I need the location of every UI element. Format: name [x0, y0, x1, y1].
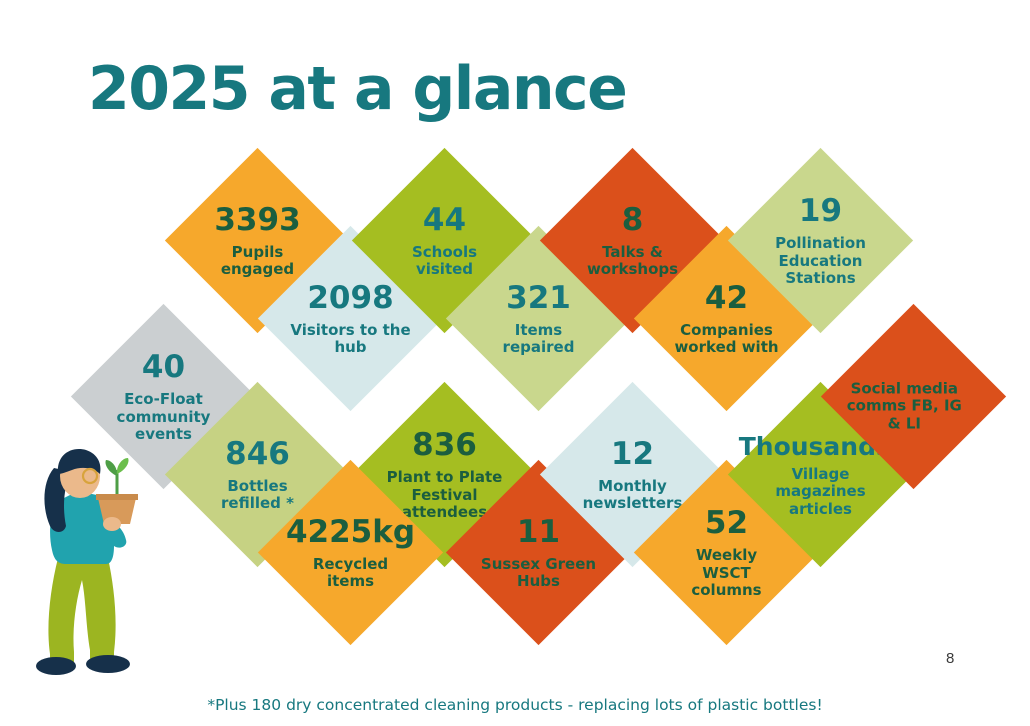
stat-label: Recycleditems [312, 555, 387, 590]
stat-value: 321 [506, 280, 571, 316]
stat-value: 44 [422, 202, 465, 238]
page-number: 8 [946, 650, 954, 667]
stat-label: Bottlesrefilled * [221, 477, 294, 512]
stats-diamond-grid: 3393Pupilsengaged2098Visitors to thehub4… [0, 0, 1030, 726]
stat-value: 19 [798, 193, 841, 229]
stat-label: Companiesworked with [674, 321, 778, 356]
stat-label: Sussex GreenHubs [480, 555, 595, 590]
stat-value: 2098 [307, 280, 393, 316]
stat-value: 40 [141, 349, 184, 385]
stat-label: Visitors to thehub [290, 321, 410, 356]
stat-label: Schoolsvisited [411, 243, 476, 278]
stat-label: Talks &workshops [586, 243, 677, 278]
stat-value: 8 [621, 202, 643, 238]
stat-value: 11 [516, 514, 559, 550]
stat-label: Itemsrepaired [502, 321, 574, 356]
stat-label: WeeklyWSCTcolumns [691, 546, 761, 598]
stat-label: Eco-Floatcommunityevents [116, 390, 210, 442]
stat-value: 52 [704, 505, 747, 541]
stat-label: PollinationEducationStations [775, 234, 866, 286]
stat-label: Villagemagazinesarticles [775, 465, 865, 517]
stat-value: 4225kg [285, 514, 414, 550]
stat-label: Social mediacomms FB, IG& LI [846, 379, 961, 431]
stat-label: Monthlynewsletters [582, 477, 682, 512]
stat-label: Pupilsengaged [220, 243, 293, 278]
stat-value: 836 [412, 427, 477, 463]
stat-value: 3393 [214, 202, 300, 238]
footnote: *Plus 180 dry concentrated cleaning prod… [0, 696, 1030, 714]
stat-value: 42 [704, 280, 747, 316]
stat-value: 12 [610, 436, 653, 472]
slide-canvas: 2025 at a glance 3393Pupilsengaged2098Vi… [0, 0, 1030, 726]
stat-value: 846 [225, 436, 290, 472]
